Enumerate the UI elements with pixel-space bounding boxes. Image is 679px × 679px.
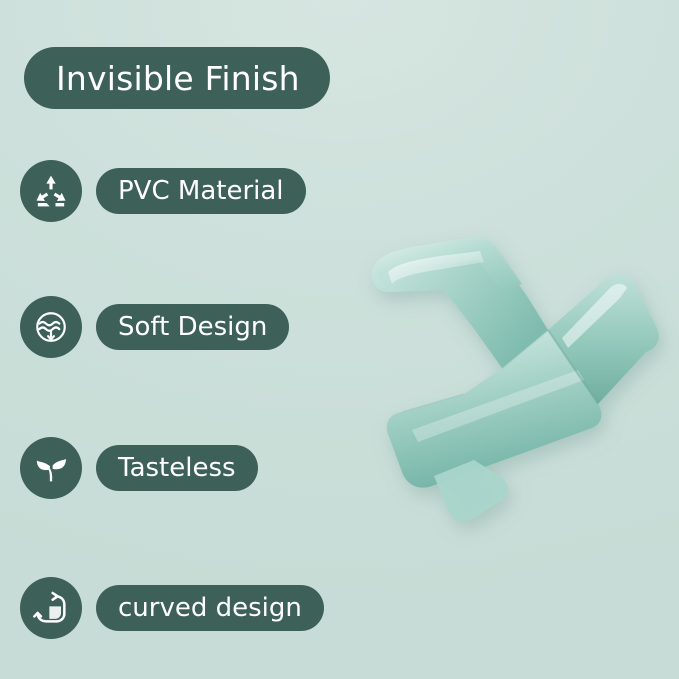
page-title: Invisible Finish	[24, 47, 330, 109]
recycle-icon	[20, 160, 82, 222]
feature-label-pvc-material: PVC Material	[96, 168, 306, 214]
page-title-text: Invisible Finish	[56, 62, 300, 95]
corner-guard-photo	[352, 218, 679, 563]
feature-item-pvc-material: PVC Material	[20, 160, 306, 222]
feature-item-tasteless: Tasteless	[20, 437, 258, 499]
curved-arrow-icon	[20, 577, 82, 639]
feature-text: Tasteless	[118, 455, 236, 481]
leaf-icon	[20, 437, 82, 499]
feature-item-curved-design: curved design	[20, 577, 324, 639]
feature-item-soft-design: Soft Design	[20, 296, 289, 358]
feature-text: PVC Material	[118, 178, 284, 204]
feature-label-curved-design: curved design	[96, 585, 324, 631]
feature-label-soft-design: Soft Design	[96, 304, 289, 350]
product-feature-graphic: Invisible Finish PVC Material	[0, 0, 679, 679]
feature-label-tasteless: Tasteless	[96, 445, 258, 491]
wave-cushion-icon	[20, 296, 82, 358]
feature-text: Soft Design	[118, 314, 267, 340]
feature-text: curved design	[118, 595, 302, 621]
